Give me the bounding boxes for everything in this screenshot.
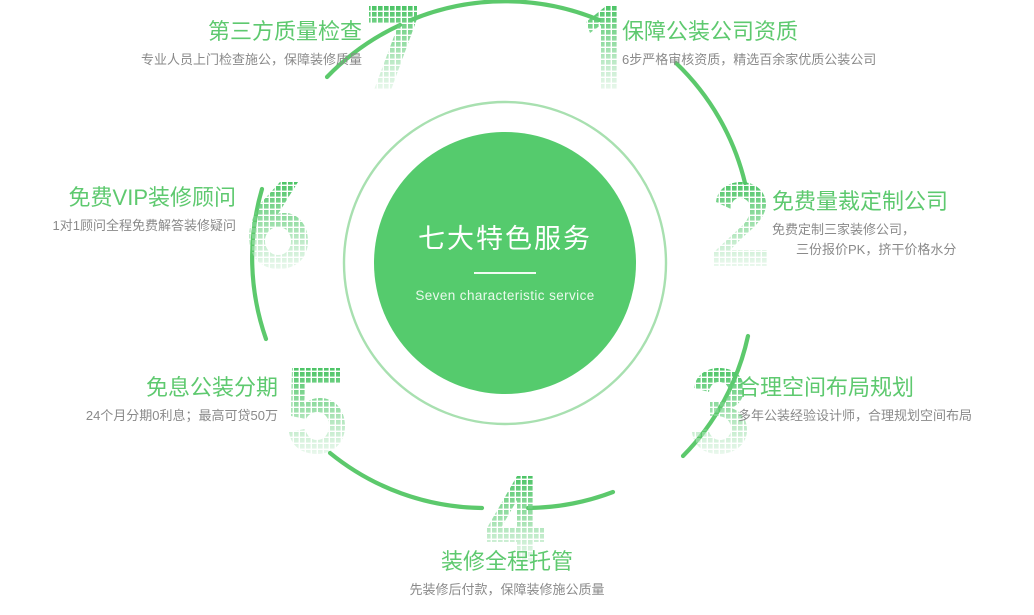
service-item-2-desc: 免费定制三家装修公司， 三份报价PK，挤干价格水分 [772,220,956,260]
service-item-6-desc-line-1: 1对1顾问全程免费解答装修疑问 [0,216,236,236]
service-item-2-title: 免费量裁定制公司 [772,188,956,216]
service-item-4-title: 装修全程托管 [337,548,677,576]
numeral-6-shape [249,182,308,269]
service-item-4-desc: 先装修后付款，保障装修施公质量 [337,580,677,600]
service-item-3-desc: 多年公装经验设计师，合理规划空间布局 [738,406,972,426]
service-item-2-desc-line-2: 三份报价PK，挤干价格水分 [772,240,956,260]
hub-subtitle: Seven characteristic service [415,288,594,303]
service-item-5-desc: 24个月分期0利息；最高可贷50万 [0,406,278,426]
hub-divider [474,272,536,274]
service-item-7-title: 第三方质量检查 [0,18,362,46]
service-item-6-title: 免费VIP装修顾问 [0,184,236,212]
center-hub: 七大特色服务 Seven characteristic service [374,132,636,394]
numeral-5-shape [289,368,345,454]
service-item-1-title: 保障公装公司资质 [622,18,876,46]
hub-title: 七大特色服务 [418,223,592,255]
service-item-6[interactable]: 免费VIP装修顾问 1对1顾问全程免费解答装修疑问 [0,184,236,236]
service-item-6-desc: 1对1顾问全程免费解答装修疑问 [0,216,236,236]
service-item-3[interactable]: 合理空间布局规划 多年公装经验设计师，合理规划空间布局 [738,374,972,426]
service-item-1-desc: 6步严格审核资质，精选百余家优质公装公司 [622,50,876,70]
service-item-3-title: 合理空间布局规划 [738,374,972,402]
service-item-3-desc-line-1: 多年公装经验设计师，合理规划空间布局 [738,406,972,426]
service-item-7[interactable]: 第三方质量检查 专业人员上门检查施公，保障装修质量 [0,18,362,70]
service-item-2-desc-line-1: 免费定制三家装修公司， [772,220,956,240]
service-item-7-desc-line-1: 专业人员上门检查施公，保障装修质量 [0,50,362,70]
service-item-5[interactable]: 免息公装分期 24个月分期0利息；最高可贷50万 [0,374,278,426]
service-item-4[interactable]: 装修全程托管 先装修后付款，保障装修施公质量 [337,548,677,600]
service-item-5-title: 免息公装分期 [0,374,278,402]
numeral-1-shape [586,6,618,90]
service-item-4-desc-line-1: 先装修后付款，保障装修施公质量 [337,580,677,600]
numeral-2-shape [714,182,767,266]
service-item-2[interactable]: 免费量裁定制公司 免费定制三家装修公司， 三份报价PK，挤干价格水分 [772,188,956,260]
service-item-1[interactable]: 保障公装公司资质 6步严格审核资质，精选百余家优质公装公司 [622,18,876,70]
infographic-canvas: 七大特色服务 Seven characteristic service 保障公装… [0,0,1034,615]
service-item-5-desc-line-1: 24个月分期0利息；最高可贷50万 [0,406,278,426]
service-item-7-desc: 专业人员上门检查施公，保障装修质量 [0,50,362,70]
service-item-1-desc-line-1: 6步严格审核资质，精选百余家优质公装公司 [622,50,876,70]
numeral-7-shape [369,6,417,90]
